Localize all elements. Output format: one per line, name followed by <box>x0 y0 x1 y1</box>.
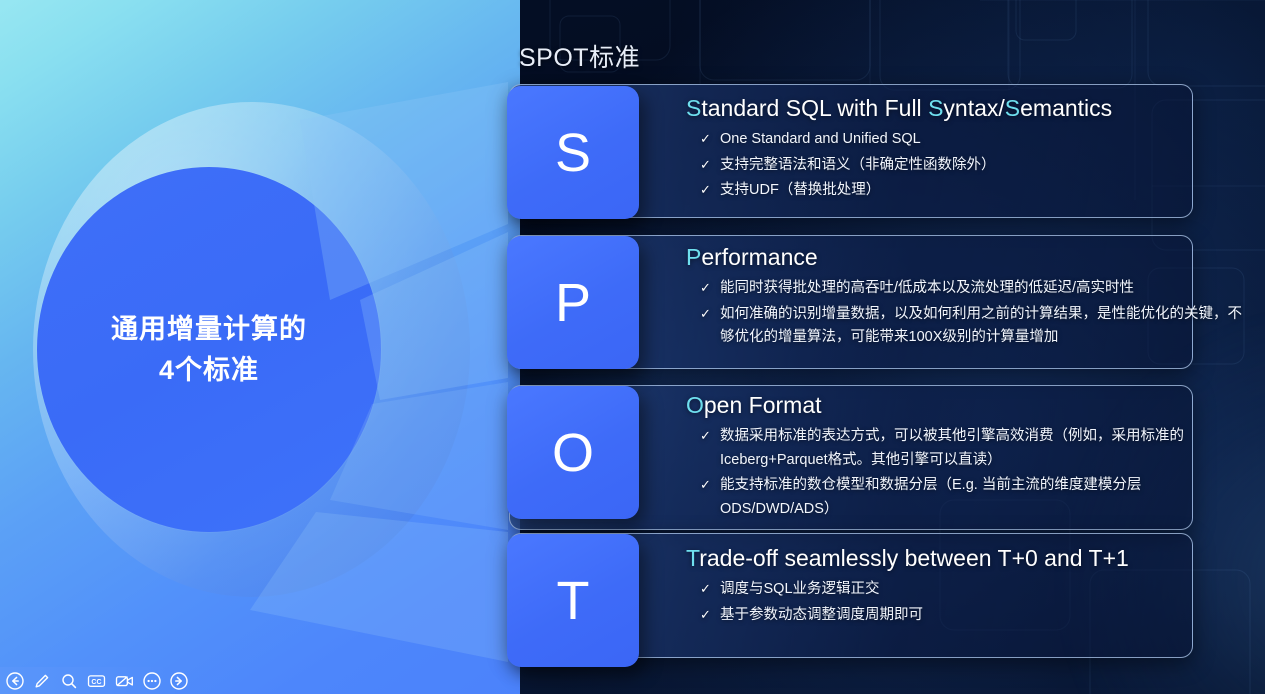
title-highlight-letter: S <box>1005 95 1020 121</box>
title-text: SQL <box>786 95 831 121</box>
check-icon: ✓ <box>700 303 711 324</box>
closed-caption-icon[interactable]: CC <box>87 671 106 690</box>
check-icon: ✓ <box>700 578 711 599</box>
hero-core-circle: 通用增量计算的 4个标准 <box>37 167 381 532</box>
card-title-trade-off: Trade-off seamlessly between T+0 and T+1 <box>686 544 1247 572</box>
badge-letter-s: S <box>507 86 639 219</box>
title-highlight-letter: T <box>686 545 699 571</box>
check-icon: ✓ <box>700 604 711 625</box>
back-arrow-icon[interactable] <box>6 671 24 690</box>
bullet-item: ✓支持完整语法和语义（非确定性函数除外） <box>700 154 1247 177</box>
bullet-item: ✓如何准确的识别增量数据，以及如何利用之前的计算结果，是性能优化的关键，不够优化… <box>700 303 1247 350</box>
bullet-item: ✓能同时获得批处理的高吞吐/低成本以及流处理的低延迟/高实时性 <box>700 277 1247 300</box>
title-text: with Full <box>831 95 928 121</box>
title-highlight-letter: O <box>686 392 704 418</box>
bullet-item: ✓调度与SQL业务逻辑正交 <box>700 578 1247 601</box>
left-hero-panel: 通用增量计算的 4个标准 <box>0 0 520 694</box>
bullet-text: 能支持标准的数仓模型和数据分层（E.g. 当前主流的维度建模分层 ODS/DWD… <box>720 477 1141 516</box>
badge-letter-p: P <box>507 236 639 369</box>
card-body-open-format: Open Format ✓ 数据采用标准的表达方式，可以被其他引擎高效消费（例如… <box>686 391 1247 523</box>
card-body-performance: Performance ✓能同时获得批处理的高吞吐/低成本以及流处理的低延迟/高… <box>686 243 1247 352</box>
bullet-text: 基于参数动态调整调度周期即可 <box>720 607 923 623</box>
check-icon: ✓ <box>700 154 711 175</box>
title-text: erformance <box>701 244 817 270</box>
title-text: yntax/ <box>943 95 1004 121</box>
bullet-item: ✓基于参数动态调整调度周期即可 <box>700 604 1247 627</box>
title-text: emantics <box>1020 95 1112 121</box>
badge-letter-o: O <box>507 386 639 519</box>
card-bullets-performance: ✓能同时获得批处理的高吞吐/低成本以及流处理的低延迟/高实时性✓如何准确的识别增… <box>686 277 1247 349</box>
svg-text:CC: CC <box>91 679 101 686</box>
bullet-text: 数据采用标准的表达方式，可以被其他引擎高效消费（例如，采用标准的Iceberg+… <box>720 428 1184 467</box>
pen-icon[interactable] <box>33 671 51 690</box>
bullet-text: 支持完整语法和语义（非确定性函数除外） <box>720 157 996 173</box>
title-highlight-letter: S <box>928 95 943 121</box>
title-highlight-letter: S <box>686 95 701 121</box>
hero-title: 通用增量计算的 4个标准 <box>111 309 307 390</box>
card-title-standard-sql: Standard SQL with Full Syntax/Semantics <box>686 94 1247 122</box>
card-title-performance: Performance <box>686 243 1247 271</box>
badge-letter-t: T <box>507 534 639 667</box>
card-title-open-format: Open Format <box>686 391 1247 419</box>
camera-off-icon[interactable] <box>115 671 134 690</box>
card-bullets-open-format: ✓ 数据采用标准的表达方式，可以被其他引擎高效消费（例如，采用标准的Iceber… <box>686 425 1247 521</box>
title-highlight-letter: P <box>686 244 701 270</box>
bullet-item: ✓ 数据采用标准的表达方式，可以被其他引擎高效消费（例如，采用标准的Iceber… <box>700 425 1247 472</box>
title-text: pen Format <box>704 392 822 418</box>
page-title: SPOT标准 <box>519 38 640 74</box>
card-bullets-trade-off: ✓调度与SQL业务逻辑正交✓基于参数动态调整调度周期即可 <box>686 578 1247 627</box>
bullet-text: One Standard and Unified SQL <box>720 131 921 147</box>
check-icon: ✓ <box>700 128 711 149</box>
slide-canvas: 通用增量计算的 4个标准 SPOT标准 S Standard SQL with … <box>0 0 1265 694</box>
check-icon: ✓ <box>700 474 711 495</box>
title-text: tandard <box>701 95 785 121</box>
bullet-item: ✓支持UDF（替换批处理） <box>700 179 1247 202</box>
bullet-text: 调度与SQL业务逻辑正交 <box>720 581 880 597</box>
card-body-standard-sql: Standard SQL with Full Syntax/Semantics … <box>686 94 1247 205</box>
bullet-text: 如何准确的识别增量数据，以及如何利用之前的计算结果，是性能优化的关键，不够优化的… <box>720 306 1242 345</box>
check-icon: ✓ <box>700 179 711 200</box>
bullet-item: ✓One Standard and Unified SQL <box>700 128 1247 151</box>
presenter-toolbar[interactable]: CC <box>0 667 175 694</box>
bullet-text: 支持UDF（替换批处理） <box>720 182 880 198</box>
card-body-trade-off: Trade-off seamlessly between T+0 and T+1… <box>686 544 1247 629</box>
forward-arrow-icon[interactable] <box>170 671 188 690</box>
search-icon[interactable] <box>60 671 78 690</box>
more-dots-icon[interactable] <box>143 671 161 690</box>
check-icon: ✓ <box>700 277 711 298</box>
bullet-item: ✓能支持标准的数仓模型和数据分层（E.g. 当前主流的维度建模分层 ODS/DW… <box>700 474 1247 521</box>
bullet-text: 能同时获得批处理的高吞吐/低成本以及流处理的低延迟/高实时性 <box>720 280 1134 296</box>
title-text: rade-off seamlessly between T+0 and T+1 <box>699 545 1129 571</box>
check-icon: ✓ <box>700 425 711 446</box>
card-bullets-standard-sql: ✓One Standard and Unified SQL✓支持完整语法和语义（… <box>686 128 1247 202</box>
